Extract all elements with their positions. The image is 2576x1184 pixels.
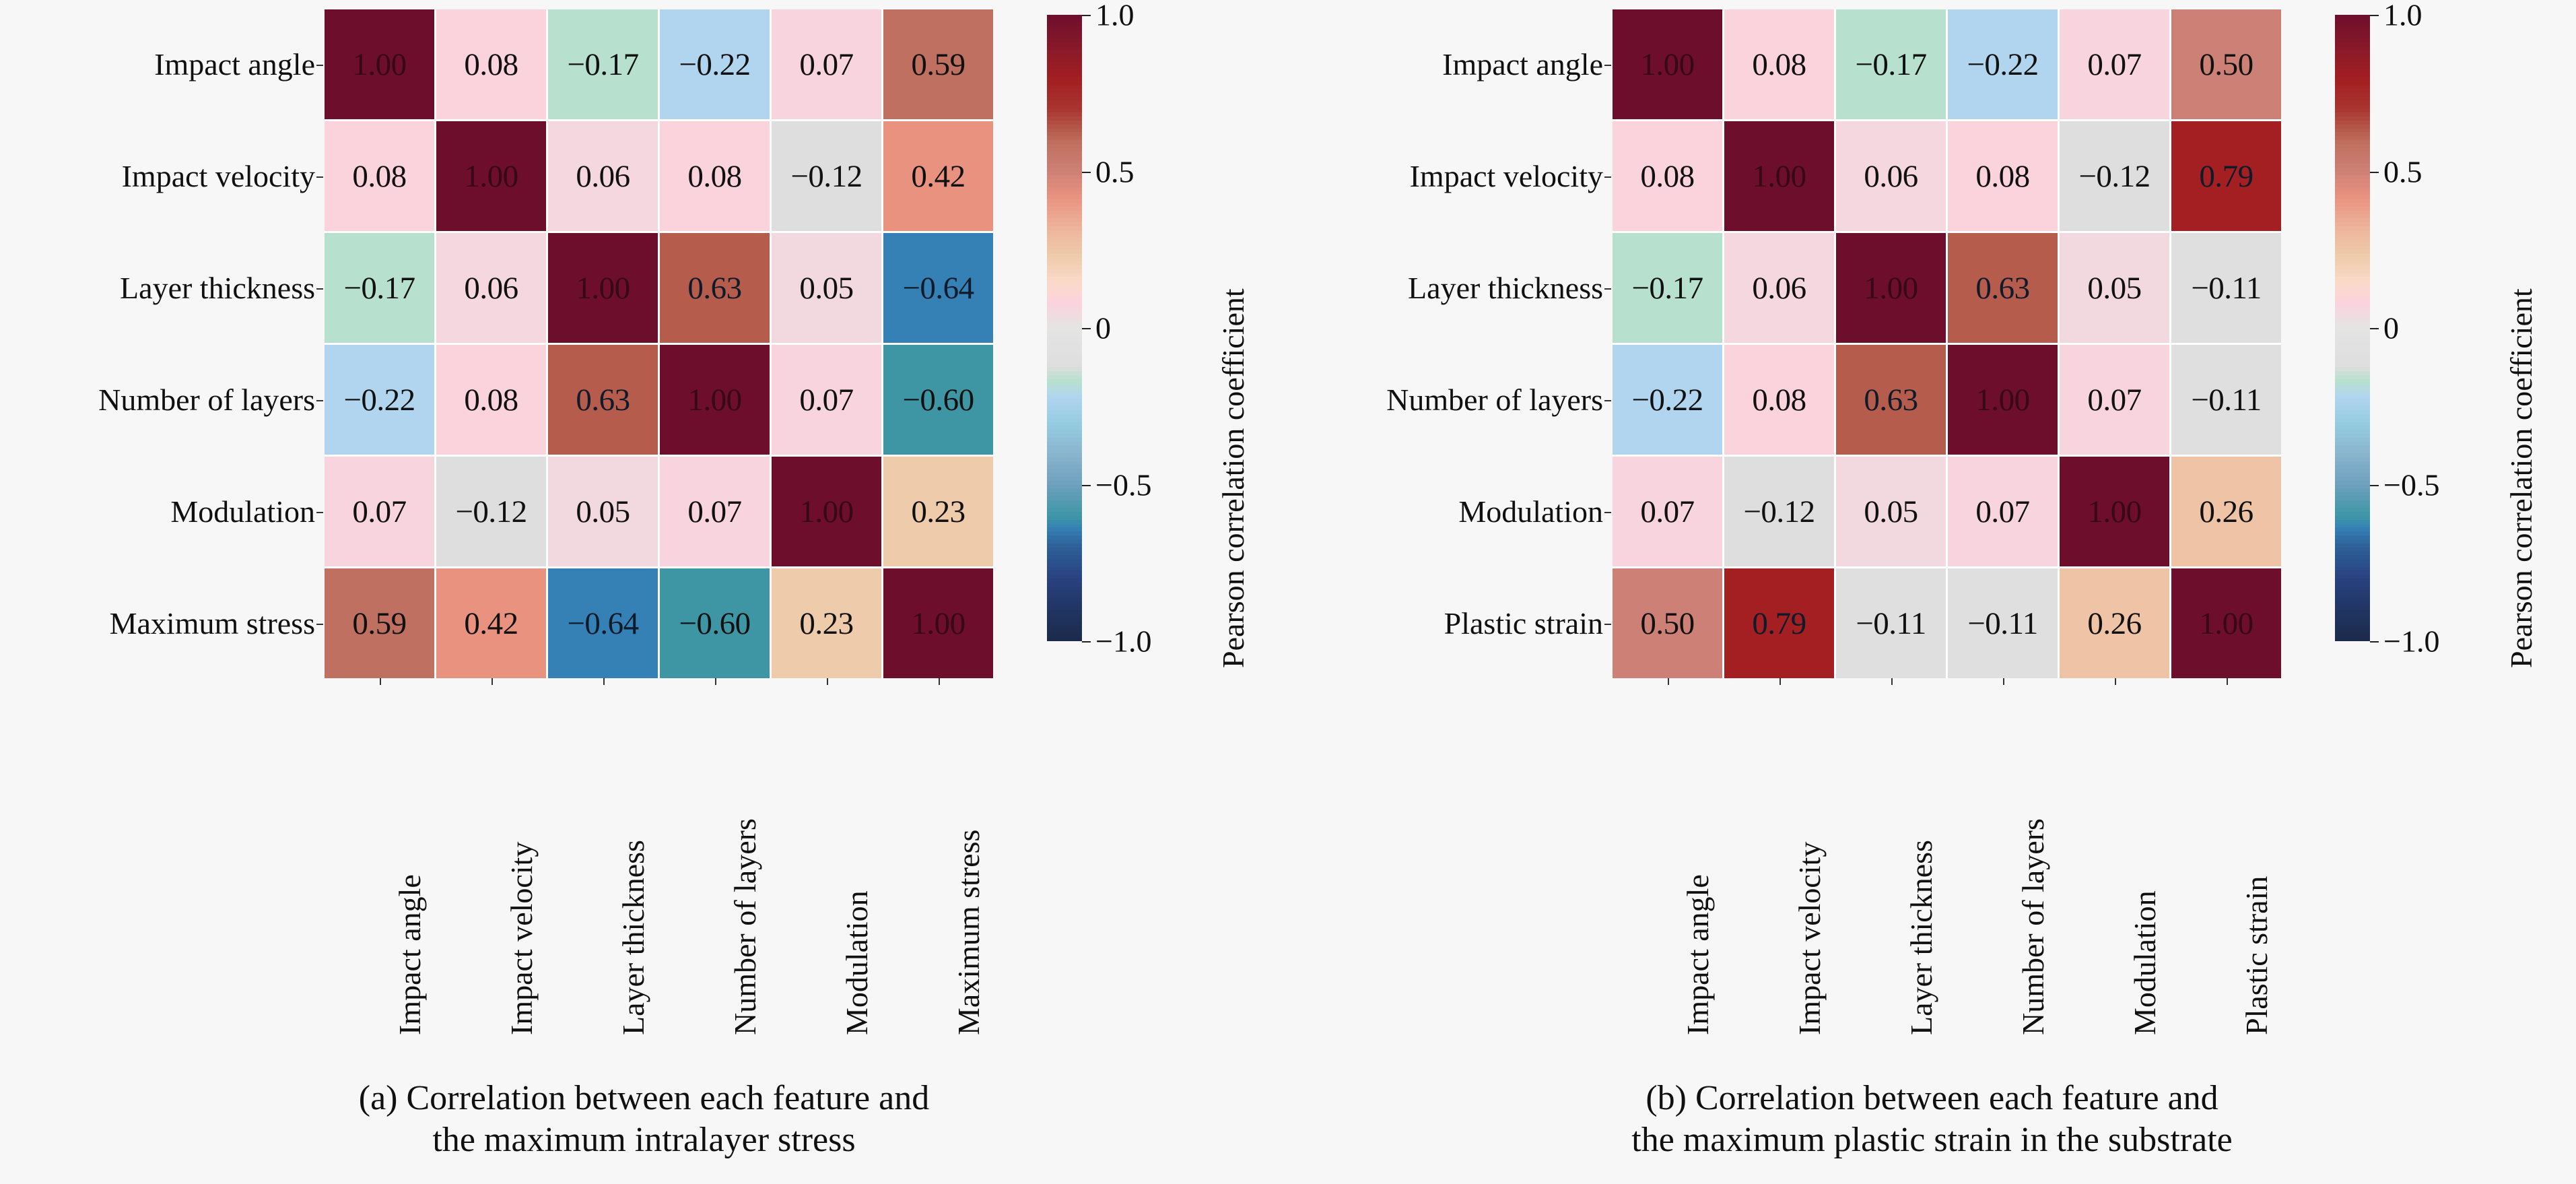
colorbar-tick-label: −0.5 <box>2383 467 2439 502</box>
x-axis-tick-label: Impact velocity <box>1792 925 1827 1035</box>
heatmap-cell: 0.59 <box>883 9 993 119</box>
heatmap-cell: 0.08 <box>436 345 546 455</box>
heatmap-cell: 0.05 <box>772 233 881 343</box>
heatmap-cell: −0.12 <box>1724 457 1834 566</box>
y-axis-tick-label: Plastic strain <box>1288 568 1613 678</box>
colorbar-tick-label: 0.5 <box>2383 154 2422 189</box>
heatmap-cell: 1.00 <box>436 121 546 231</box>
heatmap-cell: −0.11 <box>2171 345 2281 455</box>
y-axis-tick-label: Maximum stress <box>0 568 325 678</box>
y-axis-tick-mark <box>1604 65 1611 66</box>
heatmap-cell: 1.00 <box>1836 233 1946 343</box>
colorbar-tick-mark <box>2370 485 2379 486</box>
colorbar-tick-mark <box>2370 641 2379 643</box>
x-axis-tick-mark <box>939 678 940 685</box>
figure-root: Impact angleImpact velocityLayer thickne… <box>0 0 2576 1184</box>
heatmap-cell: −0.11 <box>2171 233 2281 343</box>
colorbar-tick-mark <box>2370 328 2379 329</box>
colorbar-title: Pearson correlation coefficient <box>1215 288 1251 668</box>
heatmap-cell: 0.42 <box>883 121 993 231</box>
y-axis-tick-mark <box>1604 288 1611 290</box>
y-axis-tick-mark <box>316 65 323 66</box>
colorbar-tick-label: 0 <box>1095 310 1111 346</box>
heatmap-cell: −0.12 <box>772 121 881 231</box>
heatmap-cell: −0.17 <box>548 9 658 119</box>
heatmap-cell: −0.22 <box>1948 9 2058 119</box>
x-axis-tick-label: Modulation <box>2127 925 2163 1035</box>
colorbar-tick-mark <box>1082 641 1091 643</box>
heatmap-cell: 0.63 <box>660 233 770 343</box>
x-axis-tick-mark <box>380 678 381 685</box>
x-axis-tick-mark <box>827 678 828 685</box>
heatmap-cell: 0.08 <box>1724 345 1834 455</box>
colorbar-tick-label: −1.0 <box>2383 624 2439 659</box>
heatmap-cell: −0.17 <box>1613 233 1722 343</box>
colorbar-tick-mark <box>2370 15 2379 16</box>
x-axis-tick-mark <box>2003 678 2004 685</box>
heatmap-cell: 0.26 <box>2171 457 2281 566</box>
heatmap-cell: 0.07 <box>1613 457 1722 566</box>
colorbar-tick-mark <box>2370 172 2379 173</box>
x-axis-tick-mark <box>2115 678 2116 685</box>
heatmap-cell: 0.63 <box>1836 345 1946 455</box>
x-axis-labels-a: Impact angleImpact velocityLayer thickne… <box>325 678 993 1055</box>
heatmap-cell: 1.00 <box>2171 568 2281 678</box>
y-axis-tick-mark <box>316 624 323 625</box>
heatmap-cell: 0.08 <box>1724 9 1834 119</box>
y-axis-tick-label: Impact angle <box>1288 9 1613 119</box>
heatmap-cell: −0.17 <box>1836 9 1946 119</box>
heatmap-cell: 0.05 <box>2060 233 2169 343</box>
x-axis-tick-mark <box>1668 678 1669 685</box>
y-axis-tick-label: Modulation <box>1288 457 1613 566</box>
heatmap-cell: 0.08 <box>1948 121 2058 231</box>
colorbar-title: Pearson correlation coefficient <box>2503 288 2539 668</box>
heatmap-cell: 0.08 <box>660 121 770 231</box>
colorbar-b: 1.00.50−0.5−1.0Pearson correlation coeff… <box>2335 15 2576 641</box>
y-axis-tick-mark <box>316 288 323 290</box>
heatmap-cell: −0.64 <box>548 568 658 678</box>
y-axis-tick-label: Layer thickness <box>0 233 325 343</box>
colorbar-tick-label: 1.0 <box>1095 0 1134 33</box>
x-axis-tick-label: Impact velocity <box>504 925 539 1035</box>
y-axis-tick-mark <box>316 176 323 178</box>
heatmap-cell: 1.00 <box>660 345 770 455</box>
y-axis-tick-label: Number of layers <box>1288 345 1613 455</box>
y-axis-tick-label: Number of layers <box>0 345 325 455</box>
heatmap-cell: −0.64 <box>883 233 993 343</box>
x-axis-tick-label: Maximum stress <box>951 925 986 1035</box>
x-axis-tick-mark <box>1891 678 1893 685</box>
heatmap-cell: 0.42 <box>436 568 546 678</box>
y-axis-tick-label: Impact velocity <box>1288 121 1613 231</box>
colorbar-tick-label: −1.0 <box>1095 624 1151 659</box>
heatmap-cell: −0.22 <box>660 9 770 119</box>
heatmap-cell: 0.08 <box>436 9 546 119</box>
heatmap-cell: 0.06 <box>436 233 546 343</box>
x-axis-tick-mark <box>2227 678 2228 685</box>
x-axis-tick-mark <box>603 678 605 685</box>
heatmap-cell: −0.11 <box>1836 568 1946 678</box>
y-axis-tick-mark <box>1604 400 1611 401</box>
heatmap-cell: 0.08 <box>1613 121 1722 231</box>
colorbar-tick-label: 0 <box>2383 310 2399 346</box>
heatmap-cell: −0.60 <box>660 568 770 678</box>
heatmap-cell: 0.79 <box>1724 568 1834 678</box>
y-axis-tick-label: Layer thickness <box>1288 233 1613 343</box>
colorbar-tick-mark <box>1082 172 1091 173</box>
heatmap-cell: 1.00 <box>1948 345 2058 455</box>
heatmap-cell: 0.05 <box>1836 457 1946 566</box>
colorbar-tick-label: 0.5 <box>1095 154 1134 189</box>
y-axis-tick-label: Modulation <box>0 457 325 566</box>
y-axis-tick-label: Impact angle <box>0 9 325 119</box>
y-axis-tick-mark <box>1604 512 1611 513</box>
heatmap-cell: −0.17 <box>325 233 434 343</box>
heatmap-cell: 0.59 <box>325 568 434 678</box>
colorbar-tick-mark <box>1082 15 1091 16</box>
heatmap-cell: 0.06 <box>548 121 658 231</box>
heatmap-cell: 0.07 <box>1948 457 2058 566</box>
heatmap-cell: −0.22 <box>325 345 434 455</box>
x-axis-tick-label: Layer thickness <box>615 925 651 1035</box>
x-axis-tick-label: Number of layers <box>727 925 763 1035</box>
colorbar-tick-mark <box>1082 328 1091 329</box>
heatmap-cell: 1.00 <box>548 233 658 343</box>
x-axis-tick-label: Impact angle <box>1680 925 1716 1035</box>
x-axis-tick-mark <box>492 678 493 685</box>
panel-b: Impact angleImpact velocityLayer thickne… <box>1288 0 2576 1184</box>
heatmap-cell: 0.07 <box>325 457 434 566</box>
heatmap-cell: −0.11 <box>1948 568 2058 678</box>
x-axis-tick-label: Number of layers <box>2015 925 2051 1035</box>
heatmap-cell: 1.00 <box>1613 9 1722 119</box>
heatmap-cell: 0.06 <box>1836 121 1946 231</box>
caption-b: (b) Correlation between each feature and… <box>1288 1078 2576 1161</box>
heatmap-cell: 0.07 <box>2060 9 2169 119</box>
heatmap-cell: 0.23 <box>883 457 993 566</box>
heatmap-cell: 0.50 <box>1613 568 1722 678</box>
heatmap-cell: 0.79 <box>2171 121 2281 231</box>
heatmap-cell: 0.63 <box>1948 233 2058 343</box>
heatmap-cell: −0.22 <box>1613 345 1722 455</box>
panel-a: Impact angleImpact velocityLayer thickne… <box>0 0 1288 1184</box>
y-axis-tick-mark <box>316 512 323 513</box>
y-axis-tick-mark <box>1604 624 1611 625</box>
heatmap-cell: 0.07 <box>660 457 770 566</box>
heatmap-cell: 0.08 <box>325 121 434 231</box>
x-axis-tick-label: Plastic strain <box>2239 925 2274 1035</box>
heatmap-cell: 1.00 <box>2060 457 2169 566</box>
heatmap-grid-a: 1.000.08−0.17−0.220.070.590.081.000.060.… <box>325 9 993 678</box>
heatmap-cell: 1.00 <box>325 9 434 119</box>
x-axis-tick-mark <box>1780 678 1781 685</box>
colorbar-gradient <box>2335 15 2370 641</box>
heatmap-cell: −0.60 <box>883 345 993 455</box>
colorbar-tick-label: −0.5 <box>1095 467 1151 502</box>
caption-a-line2: the maximum intralayer stress <box>0 1119 1288 1161</box>
x-axis-labels-b: Impact angleImpact velocityLayer thickne… <box>1613 678 2281 1055</box>
heatmap-cell: 0.26 <box>2060 568 2169 678</box>
y-axis-tick-label: Impact velocity <box>0 121 325 231</box>
heatmap-cell: 0.63 <box>548 345 658 455</box>
heatmap-cell: −0.12 <box>436 457 546 566</box>
heatmap-cell: 0.06 <box>1724 233 1834 343</box>
colorbar-tick-label: 1.0 <box>2383 0 2422 33</box>
heatmap-cell: 1.00 <box>883 568 993 678</box>
y-axis-tick-mark <box>316 400 323 401</box>
x-axis-tick-mark <box>715 678 716 685</box>
colorbar-a: 1.00.50−0.5−1.0Pearson correlation coeff… <box>1047 15 1330 641</box>
caption-a: (a) Correlation between each feature and… <box>0 1078 1288 1161</box>
caption-b-line2: the maximum plastic strain in the substr… <box>1288 1119 2576 1161</box>
y-axis-tick-mark <box>1604 176 1611 178</box>
x-axis-tick-label: Modulation <box>839 925 875 1035</box>
heatmap-cell: 0.07 <box>772 9 881 119</box>
heatmap-cell: −0.12 <box>2060 121 2169 231</box>
heatmap-grid-b: 1.000.08−0.17−0.220.070.500.081.000.060.… <box>1613 9 2281 678</box>
caption-b-line1: (b) Correlation between each feature and <box>1288 1078 2576 1119</box>
heatmap-cell: 0.23 <box>772 568 881 678</box>
x-axis-tick-label: Impact angle <box>392 925 428 1035</box>
caption-a-line1: (a) Correlation between each feature and <box>0 1078 1288 1119</box>
colorbar-tick-mark <box>1082 485 1091 486</box>
heatmap-cell: 1.00 <box>772 457 881 566</box>
heatmap-cell: 0.07 <box>772 345 881 455</box>
colorbar-gradient <box>1047 15 1082 641</box>
heatmap-cell: 1.00 <box>1724 121 1834 231</box>
heatmap-cell: 0.05 <box>548 457 658 566</box>
heatmap-cell: 0.07 <box>2060 345 2169 455</box>
heatmap-cell: 0.50 <box>2171 9 2281 119</box>
x-axis-tick-label: Layer thickness <box>1903 925 1939 1035</box>
